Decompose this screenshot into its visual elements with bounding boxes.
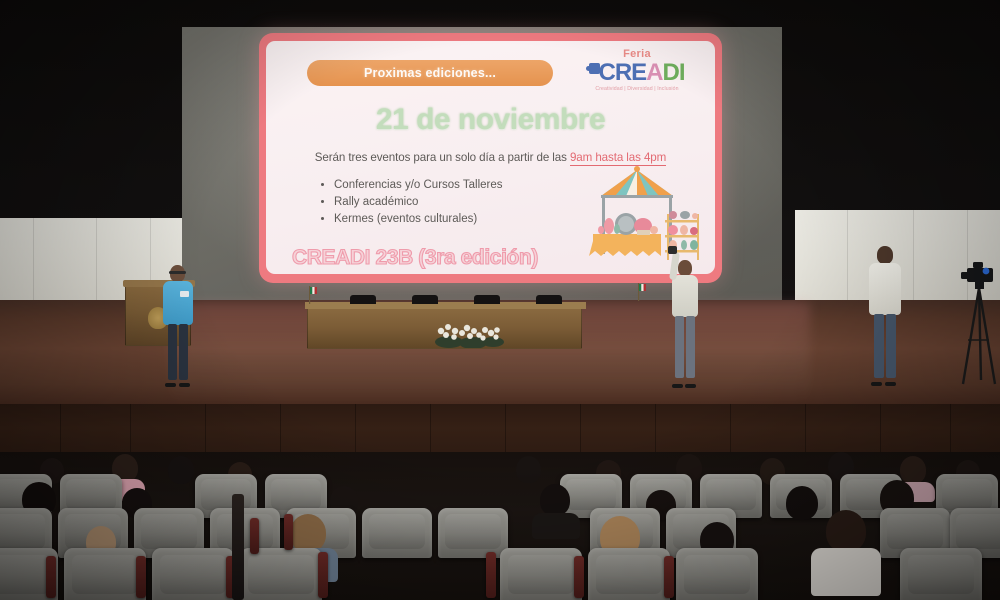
spectator: [516, 456, 541, 483]
mexican-flag: [632, 283, 646, 301]
slide-bullet-list: Conferencias y/o Cursos Talleres Rally a…: [320, 177, 503, 228]
seat[interactable]: [500, 548, 582, 600]
slide-section-pill: Proximas ediciones...: [307, 60, 553, 86]
list-item: Kermes (eventos culturales): [334, 211, 503, 227]
phone-icon: [668, 246, 677, 254]
seat[interactable]: [240, 548, 322, 600]
pill-label: Proximas ediciones...: [364, 66, 496, 80]
logo-tagline: Creatividad | Diversidad | Inclusión: [578, 86, 696, 92]
spectator: [786, 486, 818, 520]
armrest: [136, 556, 146, 598]
armrest: [250, 518, 259, 554]
glasses-icon: [169, 271, 186, 274]
list-item: Conferencias y/o Cursos Talleres: [334, 177, 503, 193]
logo-letter-e: E: [631, 60, 646, 85]
logo-letter-d: D: [663, 60, 679, 85]
logo-letter-r: R: [615, 60, 631, 85]
lead-prefix: Serán tres eventos para un solo día a pa…: [315, 151, 570, 164]
seat[interactable]: [438, 508, 508, 558]
seat[interactable]: [900, 548, 982, 600]
auditorium-scene: Proximas ediciones... Feria C R E A D I …: [0, 0, 1000, 600]
person-presenter-podium: [160, 265, 196, 387]
aisle-stanchion-post: [232, 494, 244, 600]
shirt-logo: [180, 291, 189, 297]
seat[interactable]: [362, 508, 432, 558]
seat[interactable]: [588, 548, 670, 600]
slide-footer-text: CREADI 23B (3ra edición): [292, 246, 538, 270]
spectator: [826, 510, 881, 596]
armrest: [664, 556, 674, 598]
logo-letter-a: A: [646, 60, 662, 85]
logo-letter-i: I: [679, 60, 685, 85]
armrest: [318, 552, 328, 598]
logo-letter-c: C: [598, 60, 614, 85]
list-item: Rally académico: [334, 194, 503, 210]
person-attendee-standing: [866, 246, 904, 386]
creadi-logo: Feria C R E A D I Creatividad | Diversid…: [578, 48, 696, 92]
seat[interactable]: [152, 548, 234, 600]
audience-seating: [0, 452, 1000, 600]
logo-wordmark: C R E A D I: [578, 60, 696, 85]
armrest: [574, 556, 584, 598]
person-attendee-photographing: [668, 252, 702, 388]
armrest: [46, 556, 56, 598]
mexican-flag: [303, 286, 317, 304]
puzzle-piece-icon: [589, 63, 600, 74]
seat[interactable]: [64, 548, 146, 600]
slide-headline: 21 de noviembre: [266, 103, 715, 137]
armrest: [284, 514, 293, 550]
seat[interactable]: [676, 548, 758, 600]
video-camera-tripod: [955, 248, 1000, 388]
spectator: [540, 484, 580, 539]
presentation-slide: Proximas ediciones... Feria C R E A D I …: [259, 33, 722, 283]
flower-arrangement: [433, 318, 505, 348]
armrest: [486, 552, 496, 598]
spectator: [168, 456, 194, 484]
